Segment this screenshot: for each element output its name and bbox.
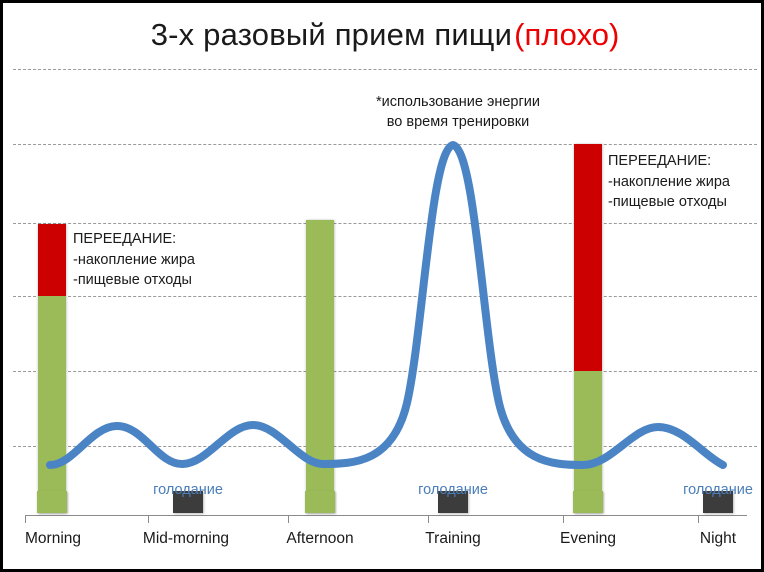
x-axis-label-afternoon: Afternoon bbox=[245, 530, 395, 548]
axis-marker-morning-meal bbox=[37, 491, 67, 513]
x-axis-label-night: Night bbox=[643, 530, 764, 548]
bar-morning-normal-segment bbox=[38, 296, 66, 513]
bar-evening-overeat-segment bbox=[574, 144, 602, 371]
annotation-morning-overeating-line1: -накопление жира bbox=[73, 250, 195, 271]
annotation-training-line1: *использование энергии bbox=[333, 93, 583, 113]
x-axis-tick-1 bbox=[148, 516, 149, 523]
bar-morning[interactable] bbox=[38, 224, 66, 513]
fasting-label-night: голодание bbox=[648, 482, 764, 498]
bar-afternoon-normal-segment bbox=[306, 220, 334, 513]
annotation-evening-overeating-line1: -накопление жира bbox=[608, 172, 730, 193]
annotation-evening-overeating-title: ПЕРЕЕДАНИЕ: bbox=[608, 151, 730, 172]
annotation-evening-overeating-line2: -пищевые отходы bbox=[608, 192, 730, 213]
annotation-morning-overeating: ПЕРЕЕДАНИЕ: -накопление жира -пищевые от… bbox=[73, 229, 195, 291]
axis-marker-afternoon-meal bbox=[305, 491, 335, 513]
x-axis-label-evening: Evening bbox=[513, 530, 663, 548]
chart-title: 3-х разовый прием пищи (плохо) bbox=[3, 9, 764, 61]
x-axis-label-morning: Morning bbox=[0, 530, 128, 548]
gridline-3 bbox=[13, 223, 757, 224]
gridline-6 bbox=[13, 446, 757, 447]
x-axis-label-mid-morning: Mid-morning bbox=[111, 530, 261, 548]
fasting-label-midmorning: голодание bbox=[118, 482, 258, 498]
annotation-morning-overeating-title: ПЕРЕЕДАНИЕ: bbox=[73, 229, 195, 250]
x-axis-label-training: Training bbox=[378, 530, 528, 548]
x-axis-tick-3 bbox=[428, 516, 429, 523]
annotation-evening-overeating: ПЕРЕЕДАНИЕ: -накопление жира -пищевые от… bbox=[608, 151, 730, 213]
fasting-label-training: голодание bbox=[383, 482, 523, 498]
annotation-morning-overeating-line2: -пищевые отходы bbox=[73, 270, 195, 291]
gridline-1 bbox=[13, 69, 757, 70]
chart-title-suffix: (плохо) bbox=[514, 17, 619, 53]
x-axis-tick-4 bbox=[563, 516, 564, 523]
axis-marker-evening-meal bbox=[573, 491, 603, 513]
x-axis-tick-2 bbox=[288, 516, 289, 523]
bar-evening[interactable] bbox=[574, 144, 602, 513]
chart-canvas: 3-х разовый прием пищи (плохо) bbox=[0, 0, 764, 572]
gridline-4 bbox=[13, 296, 757, 297]
x-axis-tick-5 bbox=[698, 516, 699, 523]
gridline-5 bbox=[13, 371, 757, 372]
x-axis-tick-0 bbox=[25, 516, 26, 523]
chart-title-main: 3-х разовый прием пищи bbox=[151, 17, 512, 53]
annotation-training: *использование энергии во время трениров… bbox=[333, 93, 583, 132]
bar-afternoon[interactable] bbox=[306, 220, 334, 513]
annotation-training-line2: во время тренировки bbox=[333, 113, 583, 133]
x-axis-line bbox=[25, 515, 747, 516]
gridline-2 bbox=[13, 144, 757, 145]
bar-morning-overeat-segment bbox=[38, 224, 66, 296]
